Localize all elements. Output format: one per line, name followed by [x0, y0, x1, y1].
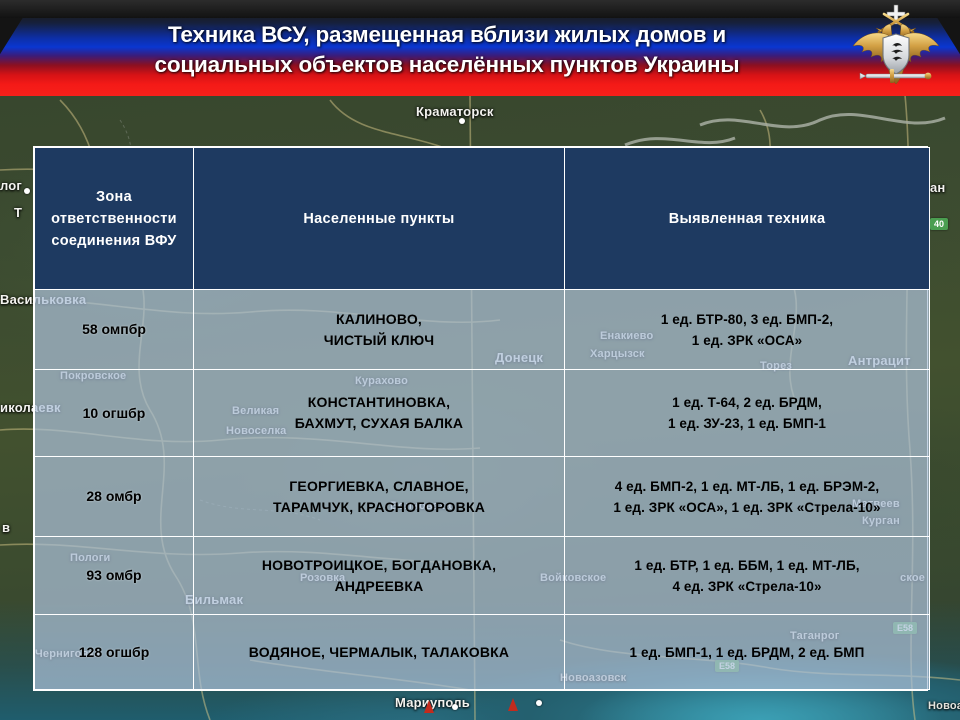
cell-equipment-line-1: 1 ед. БТР, 1 ед. ББМ, 1 ед. МТ-ЛБ,	[571, 555, 923, 576]
cell-settlements: ВОДЯНОЕ, ЧЕРМАЛЫК, ТАЛАКОВКА	[194, 615, 565, 690]
table-header-row: Зона ответственности соединения ВФУ Насе…	[35, 148, 930, 290]
double-headed-eagle-emblem	[848, 2, 944, 96]
cell-settlements-line-2: АНДРЕЕВКА	[200, 576, 558, 597]
page-title: Техника ВСУ, размещенная вблизи жилых до…	[52, 20, 842, 80]
map-place-label: лог	[0, 178, 22, 193]
column-header-zone-line-3: соединения ВФУ	[43, 230, 185, 252]
cell-zone: 58 омпбр	[35, 290, 194, 370]
cell-settlements-line-2: ЧИСТЫЙ КЛЮЧ	[200, 330, 558, 351]
column-header-settlements: Населенные пункты	[194, 148, 565, 290]
cell-settlements-line-1: НОВОТРОИЦКОЕ, БОГДАНОВКА,	[200, 555, 558, 576]
table-row: 10 огшбр КОНСТАНТИНОВКА, БАХМУТ, СУХАЯ Б…	[35, 370, 930, 457]
cell-equipment-line-2: 1 ед. ЗРК «ОСА», 1 ед. ЗРК «Стрела-10»	[571, 497, 923, 518]
map-place-label: ан	[930, 180, 945, 195]
equipment-table: Зона ответственности соединения ВФУ Насе…	[33, 146, 928, 691]
banner-top-bar	[0, 0, 960, 18]
shield-icon	[883, 34, 909, 74]
cell-equipment-line-1: 1 ед. БТР-80, 3 ед. БМП-2,	[571, 309, 923, 330]
cell-zone: 93 омбр	[35, 537, 194, 615]
map-city-dot	[459, 118, 465, 124]
cell-equipment-line-2: 4 ед. ЗРК «Стрела-10»	[571, 576, 923, 597]
map-flame-marker	[508, 698, 518, 711]
map-flame-marker	[424, 700, 434, 713]
cell-equipment-line-1: 1 ед. Т-64, 2 ед. БРДМ,	[571, 392, 923, 413]
cell-settlements: НОВОТРОИЦКОЕ, БОГДАНОВКА, АНДРЕЕВКА	[194, 537, 565, 615]
cell-zone: 128 огшбр	[35, 615, 194, 690]
column-header-zone: Зона ответственности соединения ВФУ	[35, 148, 194, 290]
cell-equipment-line-2: 1 ед. ЗРК «ОСА»	[571, 330, 923, 351]
cell-settlements-line-2: ТАРАМЧУК, КРАСНОГОРОВКА	[200, 497, 558, 518]
page-title-line-2: социальных объектов населённых пунктов У…	[52, 50, 842, 80]
cell-settlements: ГЕОРГИЕВКА, СЛАВНОЕ, ТАРАМЧУК, КРАСНОГОР…	[194, 457, 565, 537]
cell-equipment: 1 ед. БТР-80, 3 ед. БМП-2, 1 ед. ЗРК «ОС…	[565, 290, 930, 370]
map-city-dot	[452, 704, 458, 710]
cell-settlements-line-2: БАХМУТ, СУХАЯ БАЛКА	[200, 413, 558, 434]
column-header-equipment: Выявленная техника	[565, 148, 930, 290]
cell-settlements-line-1: КОНСТАНТИНОВКА,	[200, 392, 558, 413]
cell-equipment: 4 ед. БМП-2, 1 ед. МТ-ЛБ, 1 ед. БРЭМ-2, …	[565, 457, 930, 537]
column-header-zone-line-1: Зона	[43, 186, 185, 208]
cell-zone: 10 огшбр	[35, 370, 194, 457]
cell-equipment: 1 ед. БТР, 1 ед. ББМ, 1 ед. МТ-ЛБ, 4 ед.…	[565, 537, 930, 615]
map-city-dot	[24, 188, 30, 194]
cell-settlements-line-1: ВОДЯНОЕ, ЧЕРМАЛЫК, ТАЛАКОВКА	[200, 642, 558, 663]
map-place-label: Т	[14, 205, 22, 220]
cell-settlements: КАЛИНОВО, ЧИСТЫЙ КЛЮЧ	[194, 290, 565, 370]
table-row: 128 огшбр ВОДЯНОЕ, ЧЕРМАЛЫК, ТАЛАКОВКА 1…	[35, 615, 930, 690]
cell-settlements-line-1: ГЕОРГИЕВКА, СЛАВНОЕ,	[200, 476, 558, 497]
cell-equipment: 1 ед. БМП-1, 1 ед. БРДМ, 2 ед. БМП	[565, 615, 930, 690]
column-header-zone-line-2: ответственности	[43, 208, 185, 230]
cell-zone: 28 омбр	[35, 457, 194, 537]
map-place-label: в	[2, 520, 10, 535]
table-row: 58 омпбр КАЛИНОВО, ЧИСТЫЙ КЛЮЧ 1 ед. БТР…	[35, 290, 930, 370]
cell-equipment: 1 ед. Т-64, 2 ед. БРДМ, 1 ед. ЗУ-23, 1 е…	[565, 370, 930, 457]
table-row: 93 омбр НОВОТРОИЦКОЕ, БОГДАНОВКА, АНДРЕЕ…	[35, 537, 930, 615]
table-row: 28 омбр ГЕОРГИЕВКА, СЛАВНОЕ, ТАРАМЧУК, К…	[35, 457, 930, 537]
map-place-label: Новоазовск	[928, 700, 960, 712]
map-city-dot	[536, 700, 542, 706]
page-title-line-1: Техника ВСУ, размещенная вблизи жилых до…	[52, 20, 842, 50]
title-banner: Техника ВСУ, размещенная вблизи жилых до…	[0, 0, 960, 96]
cell-equipment-line-1: 1 ед. БМП-1, 1 ед. БРДМ, 2 ед. БМП	[571, 642, 923, 663]
cell-settlements-line-1: КАЛИНОВО,	[200, 309, 558, 330]
cell-settlements: КОНСТАНТИНОВКА, БАХМУТ, СУХАЯ БАЛКА	[194, 370, 565, 457]
cell-equipment-line-2: 1 ед. ЗУ-23, 1 ед. БМП-1	[571, 413, 923, 434]
slide-root: КраматорсклогТВасильковкаМежеваяанПокров…	[0, 0, 960, 720]
cell-equipment-line-1: 4 ед. БМП-2, 1 ед. МТ-ЛБ, 1 ед. БРЭМ-2,	[571, 476, 923, 497]
map-road-badge: 40	[930, 218, 948, 230]
map-place-label: Краматорск	[416, 104, 494, 119]
